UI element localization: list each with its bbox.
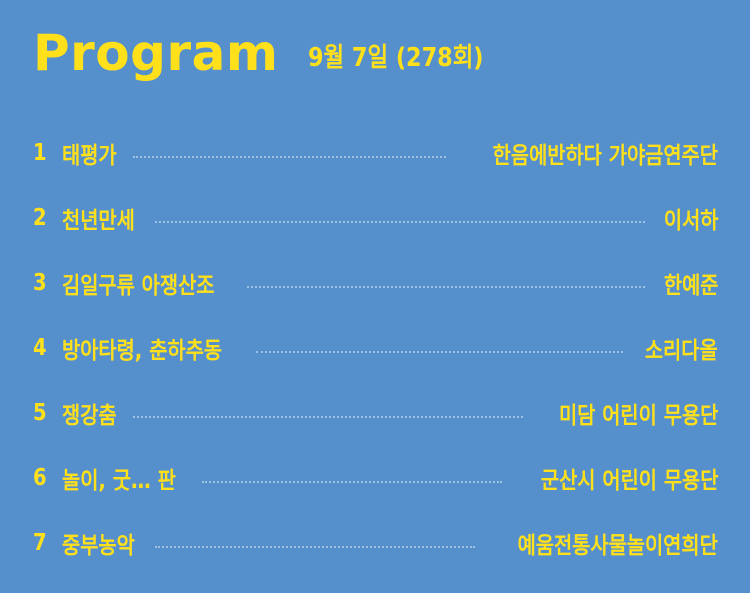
row-index: 7 — [33, 530, 58, 556]
row-piece-title: 쟁강춤 — [62, 396, 122, 430]
row-index: 5 — [33, 400, 58, 426]
row-piece-title: 중부농악 — [62, 526, 140, 560]
dotted-leader — [256, 336, 623, 359]
table-row: 1 태평가 한음에반하다 가야금연주단 — [0, 120, 750, 185]
dotted-leader — [155, 206, 645, 229]
page-title: Program — [33, 28, 278, 78]
row-performer-name: 군산시 어린이 무용단 — [534, 461, 718, 495]
row-performer-name: 미담 어린이 무용단 — [552, 396, 718, 430]
row-index: 6 — [33, 465, 58, 491]
row-performer-name: 이서하 — [657, 201, 718, 235]
row-performer-name: 한예준 — [657, 266, 718, 300]
row-piece-title: 방아타령, 춘하추동 — [62, 331, 227, 365]
row-piece-title: 천년만세 — [62, 201, 140, 235]
dotted-leader — [202, 466, 501, 489]
table-row: 7 중부농악 예움전통사물놀이연희단 — [0, 510, 750, 575]
row-piece-title: 김일구류 아쟁산조 — [62, 266, 220, 300]
row-index: 4 — [33, 335, 58, 361]
row-index: 1 — [33, 140, 58, 166]
row-index: 2 — [33, 205, 58, 231]
dotted-leader — [133, 141, 446, 164]
program-list: 1 태평가 한음에반하다 가야금연주단 2 천년만세 이서하 3 김일구류 아쟁… — [0, 120, 750, 575]
dotted-leader — [155, 531, 476, 554]
table-row: 6 놀이, 굿… 판 군산시 어린이 무용단 — [0, 445, 750, 510]
row-piece-title: 놀이, 굿… 판 — [62, 461, 181, 495]
table-row: 2 천년만세 이서하 — [0, 185, 750, 250]
program-date-subtitle: 9월 7일 (278회) — [308, 45, 484, 71]
row-piece-title: 태평가 — [62, 136, 122, 170]
table-row: 4 방아타령, 춘하추동 소리다올 — [0, 315, 750, 380]
program-poster: Program 9월 7일 (278회) 1 태평가 한음에반하다 가야금연주단… — [0, 0, 750, 593]
table-row: 3 김일구류 아쟁산조 한예준 — [0, 250, 750, 315]
table-row: 5 쟁강춤 미담 어린이 무용단 — [0, 380, 750, 445]
row-performer-name: 예움전통사물놀이연희단 — [511, 526, 718, 560]
row-index: 3 — [33, 270, 58, 296]
row-performer-name: 소리다올 — [638, 331, 718, 365]
dotted-leader — [247, 271, 644, 294]
poster-header: Program 9월 7일 (278회) — [33, 28, 723, 98]
dotted-leader — [133, 401, 522, 424]
row-performer-name: 한음에반하다 가야금연주단 — [486, 136, 718, 170]
